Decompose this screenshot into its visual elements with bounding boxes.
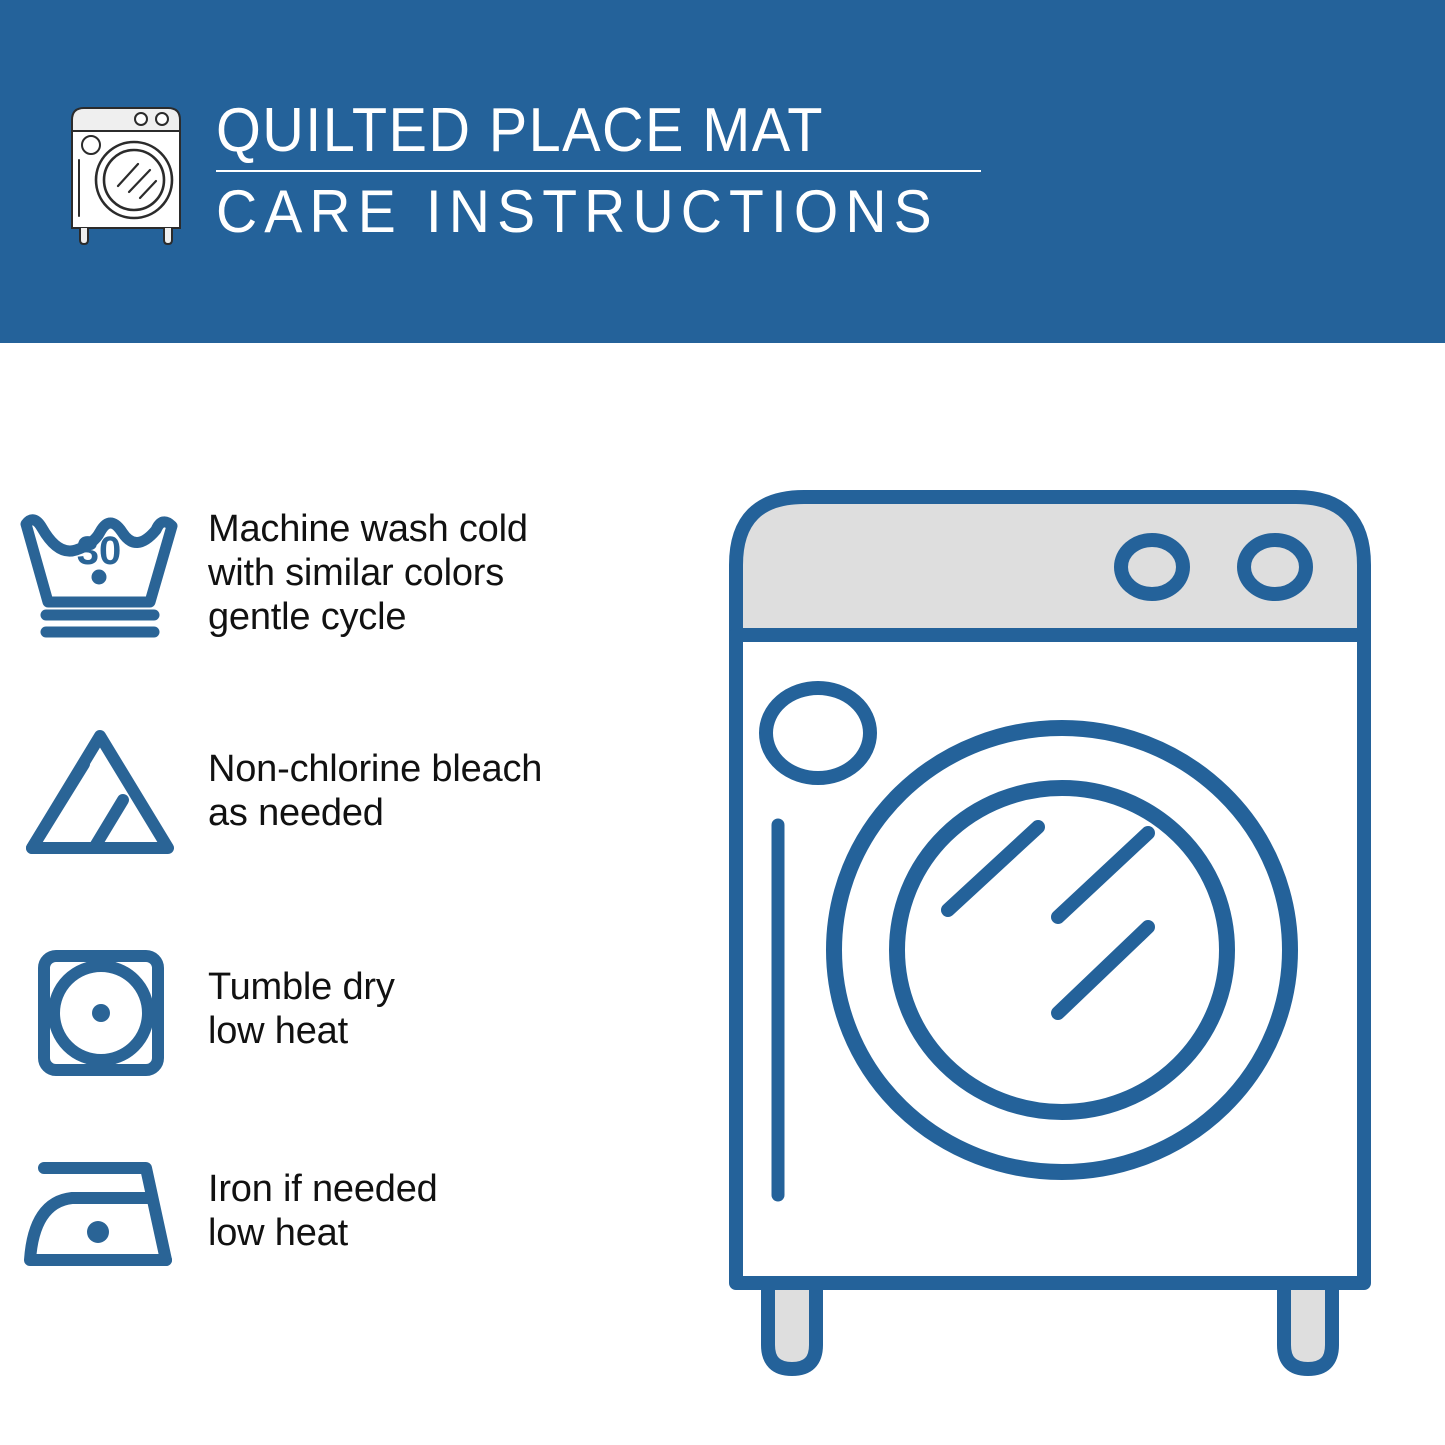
care-row: Tumble dry low heat [0, 933, 700, 1093]
control-knob [1121, 540, 1183, 594]
care-text-bleach: Non-chlorine bleach as needed [200, 715, 700, 835]
care-row: Iron if needed low heat [0, 1135, 700, 1295]
tumble-dry-low-heat-icon [0, 933, 200, 1093]
care-symbol-list: 30 Machine wash cold with similar colors… [0, 343, 700, 1445]
iron-low-heat-icon [0, 1135, 200, 1295]
care-text-line: low heat [208, 1009, 700, 1053]
care-row: Non-chlorine bleach as needed [0, 715, 700, 875]
control-knob [1244, 540, 1306, 594]
care-text-iron: Iron if needed low heat [200, 1135, 700, 1255]
washer-leg [1284, 1283, 1332, 1369]
front-load-washing-machine-illustration [700, 455, 1400, 1395]
page-subtitle: CARE INSTRUCTIONS [216, 180, 1024, 244]
wash-temperature-value: 30 [77, 529, 122, 573]
care-text-line: Machine wash cold [208, 507, 700, 551]
care-text-line: Non-chlorine bleach [208, 747, 700, 791]
header-band: QUILTED PLACE MAT CARE INSTRUCTIONS [0, 0, 1445, 343]
care-text-line: Tumble dry [208, 965, 700, 1009]
washer-leg [768, 1283, 816, 1369]
page-title: QUILTED PLACE MAT [216, 98, 1007, 164]
care-text-line: as needed [208, 791, 700, 835]
title-divider [216, 170, 981, 172]
wash-tub-30-icon: 30 [0, 493, 200, 653]
non-chlorine-bleach-triangle-icon [0, 715, 200, 875]
washing-machine-logo-icon [66, 98, 186, 248]
header-inner: QUILTED PLACE MAT CARE INSTRUCTIONS [66, 96, 1066, 266]
care-text-line: gentle cycle [208, 595, 700, 639]
care-instructions-page: QUILTED PLACE MAT CARE INSTRUCTIONS [0, 0, 1445, 1445]
header-titles: QUILTED PLACE MAT CARE INSTRUCTIONS [216, 96, 1066, 244]
care-text-line: low heat [208, 1211, 700, 1255]
care-text-line: with similar colors [208, 551, 700, 595]
care-text-line: Iron if needed [208, 1167, 700, 1211]
care-row: 30 Machine wash cold with similar colors… [0, 493, 700, 653]
care-text-wash: Machine wash cold with similar colors ge… [200, 493, 700, 639]
care-text-dry: Tumble dry low heat [200, 933, 700, 1053]
